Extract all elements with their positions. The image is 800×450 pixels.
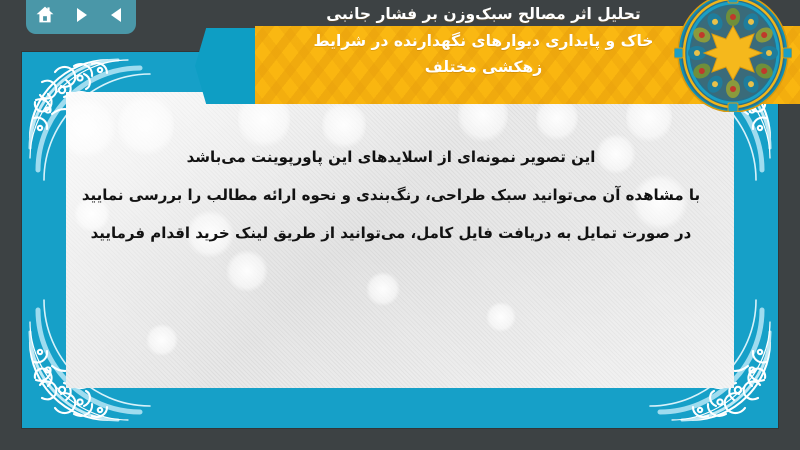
bokeh-circle: [366, 272, 400, 306]
bokeh-circle: [486, 302, 516, 332]
slide-body-text: این تصویر نمونه‌ای از اسلایدهای این پاور…: [0, 138, 782, 252]
next-slide-button[interactable]: [70, 6, 92, 28]
bokeh-circle: [146, 324, 178, 356]
triangle-left-icon: [108, 6, 126, 28]
body-line: در صورت تمایل به دریافت فایل کامل، می‌تو…: [0, 214, 782, 252]
bokeh-circle: [626, 92, 672, 144]
bokeh-circle: [536, 94, 578, 142]
body-line: این تصویر نمونه‌ای از اسلایدهای این پاور…: [0, 138, 782, 176]
home-icon: [35, 5, 55, 29]
slide-viewer: این تصویر نمونه‌ای از اسلایدهای این پاور…: [0, 0, 800, 450]
triangle-right-icon: [72, 6, 90, 28]
bokeh-circle: [458, 92, 508, 144]
navigation-toolbar: [26, 0, 136, 34]
bokeh-circle: [226, 250, 268, 292]
prev-slide-button[interactable]: [106, 6, 128, 28]
persian-medallion-icon: [674, 0, 792, 112]
home-button[interactable]: [34, 6, 56, 28]
body-line: با مشاهده آن می‌توانید سبک طراحی، رنگ‌بن…: [0, 176, 782, 214]
